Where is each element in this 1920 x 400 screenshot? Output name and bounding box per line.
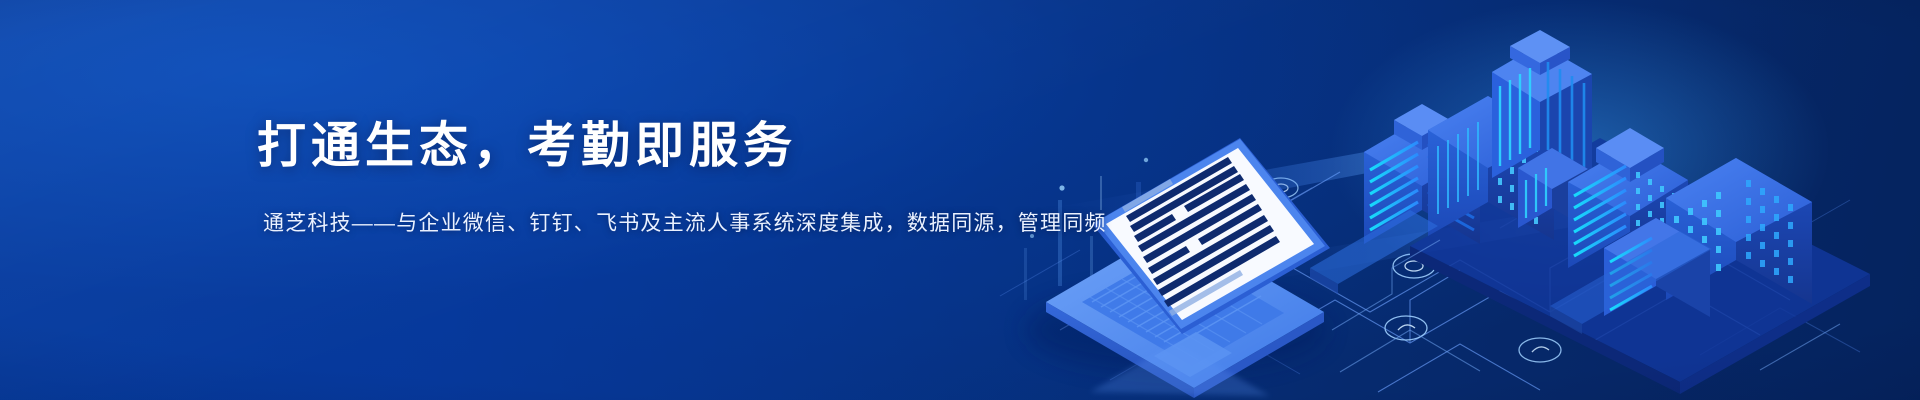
network-node-icon (1393, 254, 1435, 278)
circuit-board-paths (1060, 172, 1790, 392)
screen-text-lines-light (1122, 179, 1243, 316)
city-building (1492, 30, 1592, 229)
city-building (1604, 218, 1710, 317)
network-node-icon (1206, 211, 1248, 235)
laptop-reflection (1090, 342, 1270, 396)
screen-text-lines (1126, 157, 1280, 307)
city-building (1364, 104, 1480, 244)
network-node-icon (1264, 178, 1298, 198)
circuit-board-paths-faint (1000, 200, 1860, 380)
network-node-icon (1385, 316, 1427, 340)
skyline-glow (1330, 0, 1830, 300)
glow-light-bars (1040, 128, 1680, 278)
page-subtitle: 通芝科技——与企业微信、钉钉、飞书及主流人事系统深度集成，数据同源，管理同频 (263, 208, 1077, 240)
city-base-slab (1410, 138, 1870, 394)
glow-walkway (1310, 210, 1712, 334)
city-building (1666, 158, 1812, 304)
network-node-icon (1519, 338, 1561, 362)
page-title: 打通生态，考勤即服务 (257, 118, 1077, 176)
illustration-artwork (940, 0, 1920, 400)
city-building (1568, 128, 1688, 268)
hero-copy: 打通生态，考勤即服务 通芝科技——与企业微信、钉钉、飞书及主流人事系统深度集成，… (257, 118, 1077, 239)
circuit-foreground-lines (1332, 240, 1840, 372)
city-building (1428, 0, 1554, 240)
hero-banner: 打通生态，考勤即服务 通芝科技——与企业微信、钉钉、飞书及主流人事系统深度集成，… (0, 0, 1920, 400)
